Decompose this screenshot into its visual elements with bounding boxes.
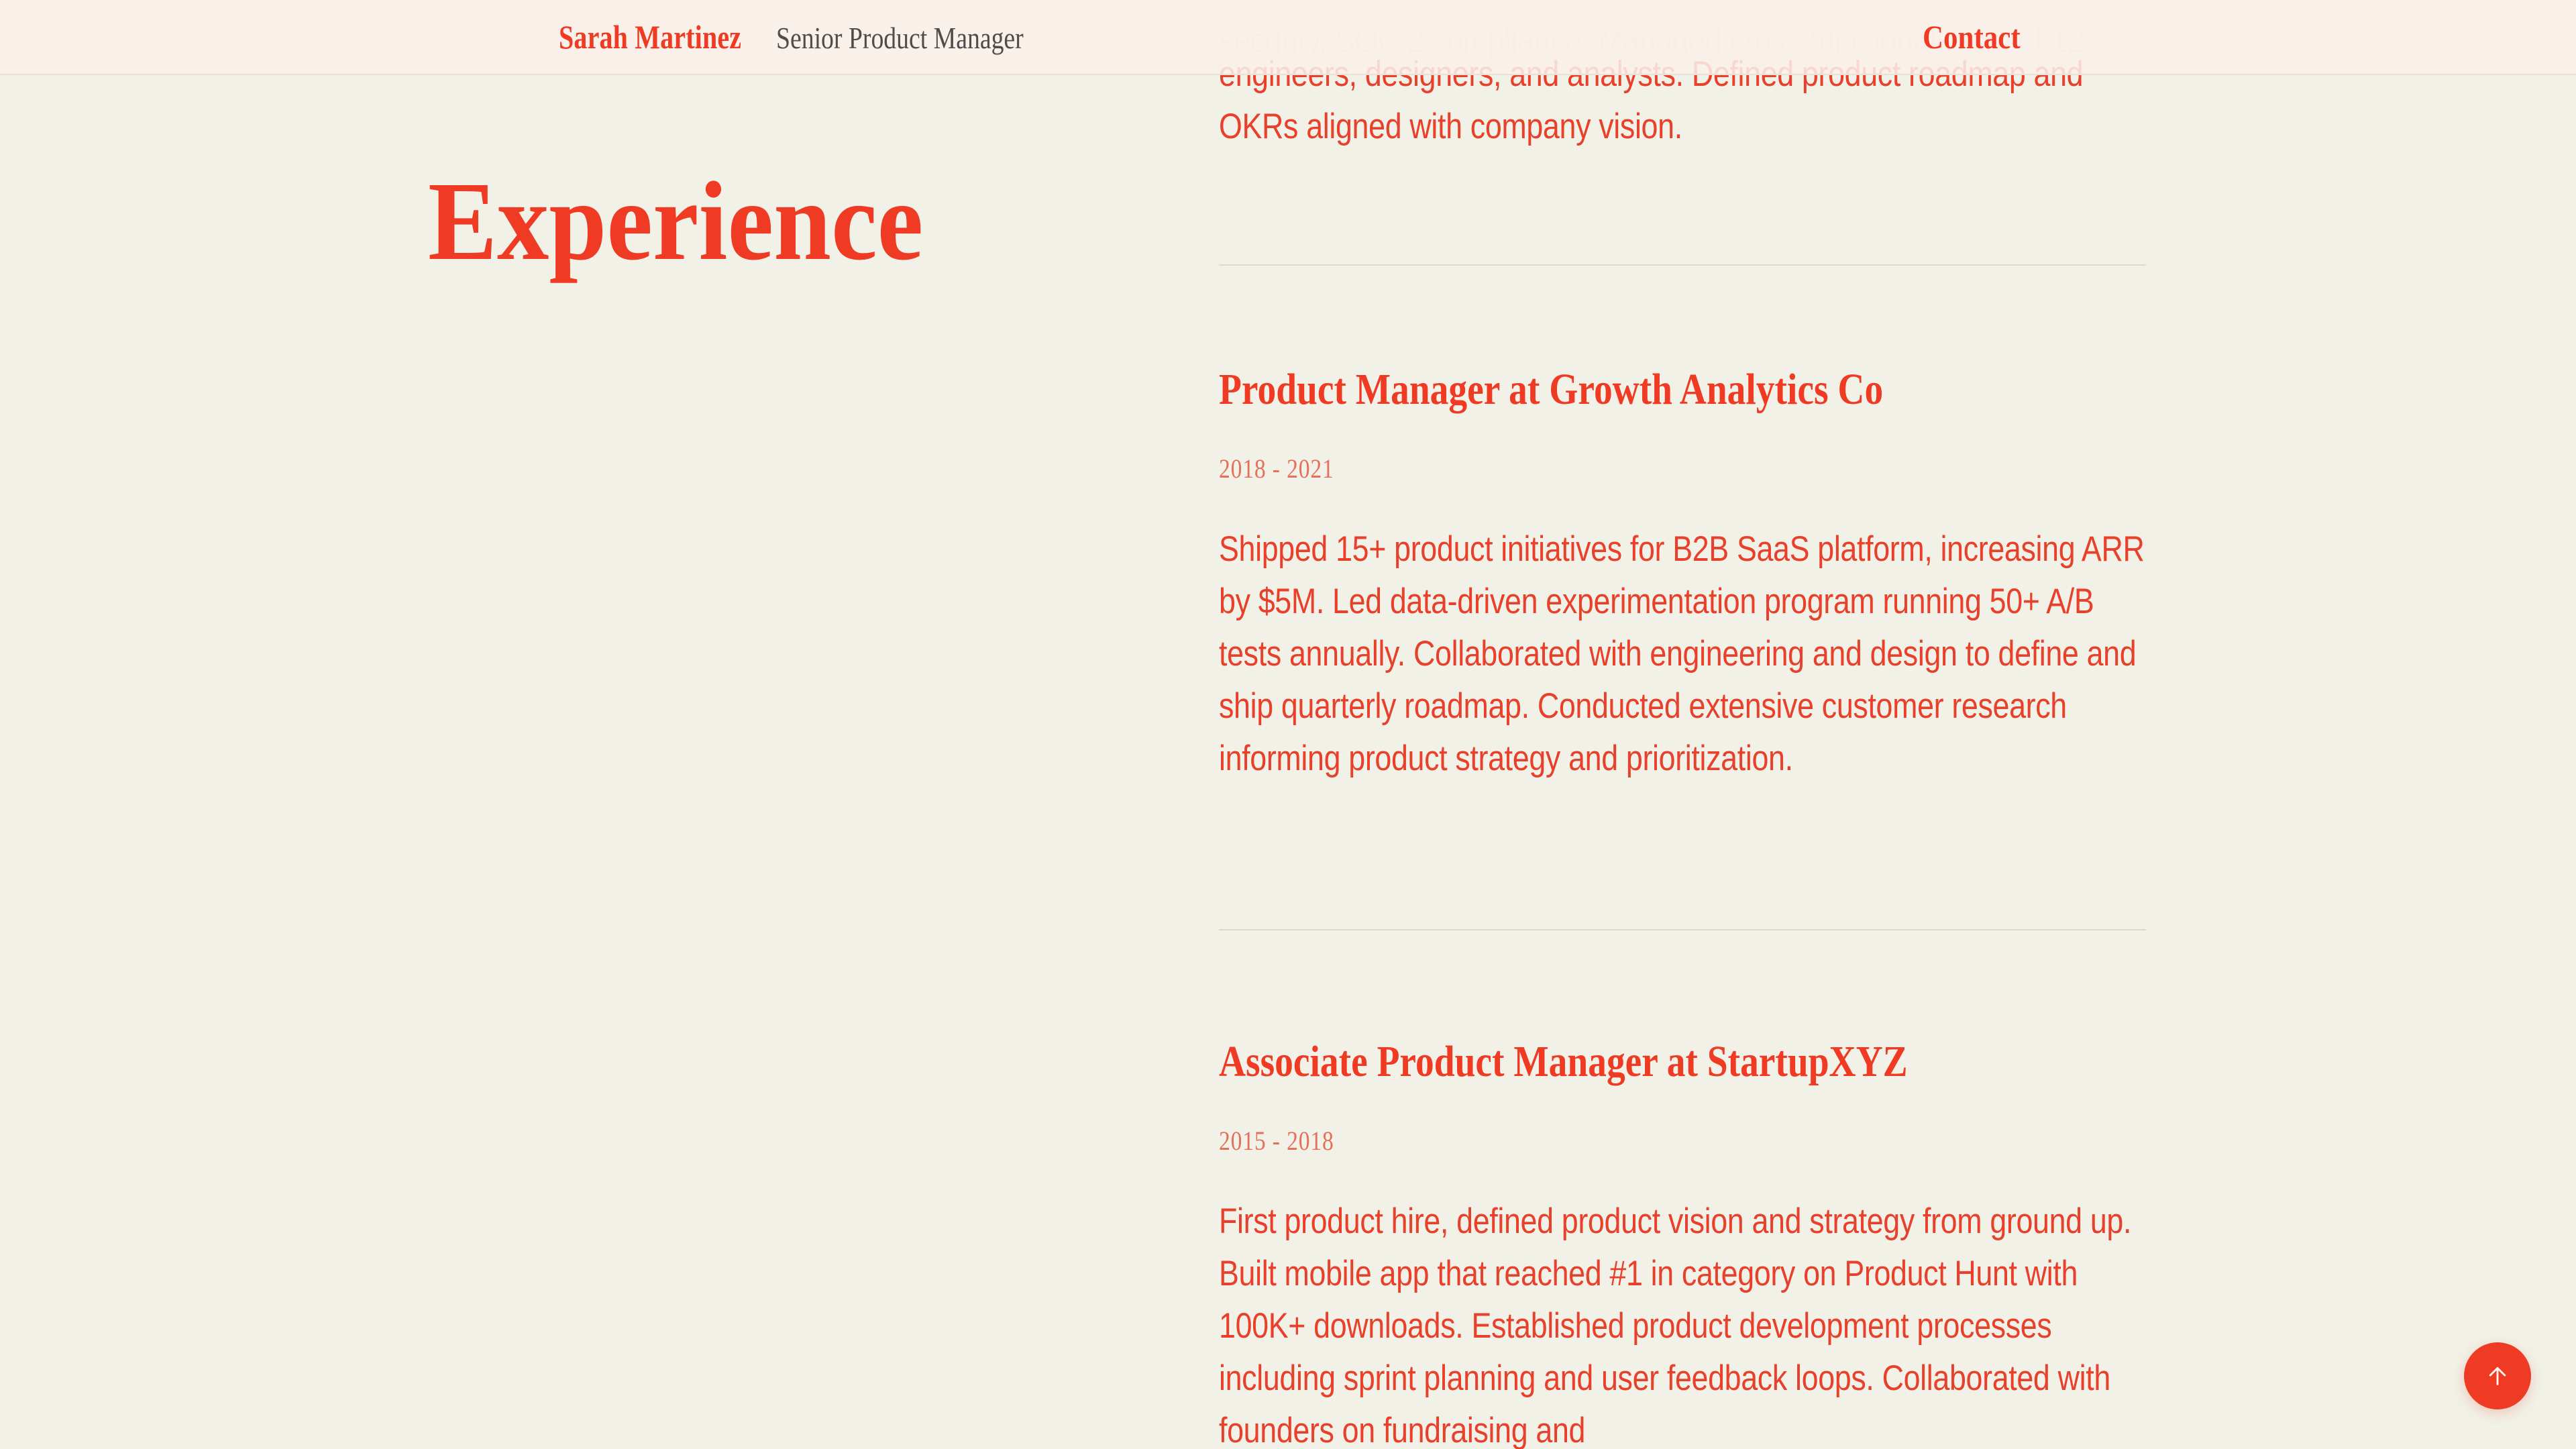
- section-divider: [1219, 264, 2146, 266]
- nav-link-contact[interactable]: Contact: [1923, 17, 2021, 56]
- experience-description: Shipped 15+ product initiatives for B2B …: [1219, 523, 2146, 785]
- section-divider: [1219, 929, 2146, 930]
- brand[interactable]: Sarah Martinez Senior Product Manager: [559, 17, 1078, 56]
- brand-name[interactable]: Sarah Martinez: [559, 17, 741, 56]
- site-header: Sarah Martinez Senior Product Manager Co…: [0, 0, 2576, 75]
- page-layout: Experience security, SOC 2 compliance. M…: [0, 0, 2576, 1449]
- experience-dates: 2018 - 2021: [1219, 454, 1334, 484]
- brand-role: Senior Product Manager: [776, 20, 1024, 56]
- arrow-up-icon: [2484, 1362, 2511, 1389]
- page-title: Experience: [428, 165, 923, 278]
- experience-description: First product hire, defined product visi…: [1219, 1195, 2146, 1449]
- scroll-to-top-button[interactable]: [2464, 1342, 2531, 1409]
- experience-title: Associate Product Manager at StartupXYZ: [1219, 1038, 1908, 1087]
- experience-title: Product Manager at Growth Analytics Co: [1219, 366, 1883, 415]
- experience-dates: 2015 - 2018: [1219, 1126, 1334, 1156]
